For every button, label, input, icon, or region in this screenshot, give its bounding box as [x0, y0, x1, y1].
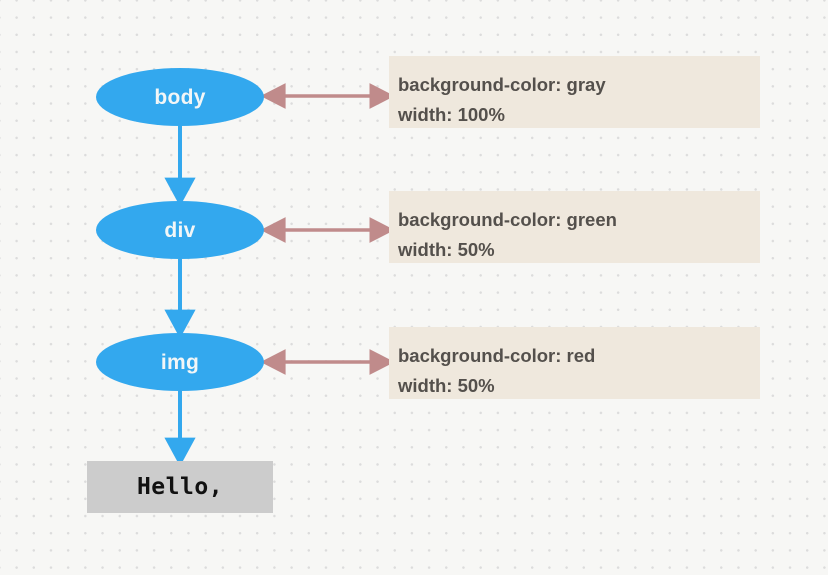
annotation-body-line-1: background-color: gray: [398, 70, 760, 100]
diagram-canvas: body div img Hello, background-color: gr…: [0, 0, 828, 575]
annotation-body-line-2: width: 100%: [398, 100, 760, 130]
node-img-label: img: [161, 352, 199, 373]
node-body[interactable]: body: [96, 68, 264, 126]
annotation-div: background-color: green width: 50%: [389, 191, 760, 263]
node-img[interactable]: img: [96, 333, 264, 391]
annotation-body: background-color: gray width: 100%: [389, 56, 760, 128]
node-body-label: body: [154, 87, 205, 108]
annotation-img-line-1: background-color: red: [398, 341, 760, 371]
annotation-div-line-1: background-color: green: [398, 205, 760, 235]
annotation-img-line-2: width: 50%: [398, 371, 760, 401]
node-div-label: div: [164, 220, 195, 241]
text-node-hello[interactable]: Hello,: [87, 461, 273, 513]
annotation-div-line-2: width: 50%: [398, 235, 760, 265]
node-div[interactable]: div: [96, 201, 264, 259]
annotation-img: background-color: red width: 50%: [389, 327, 760, 399]
text-node-label: Hello,: [137, 474, 223, 500]
